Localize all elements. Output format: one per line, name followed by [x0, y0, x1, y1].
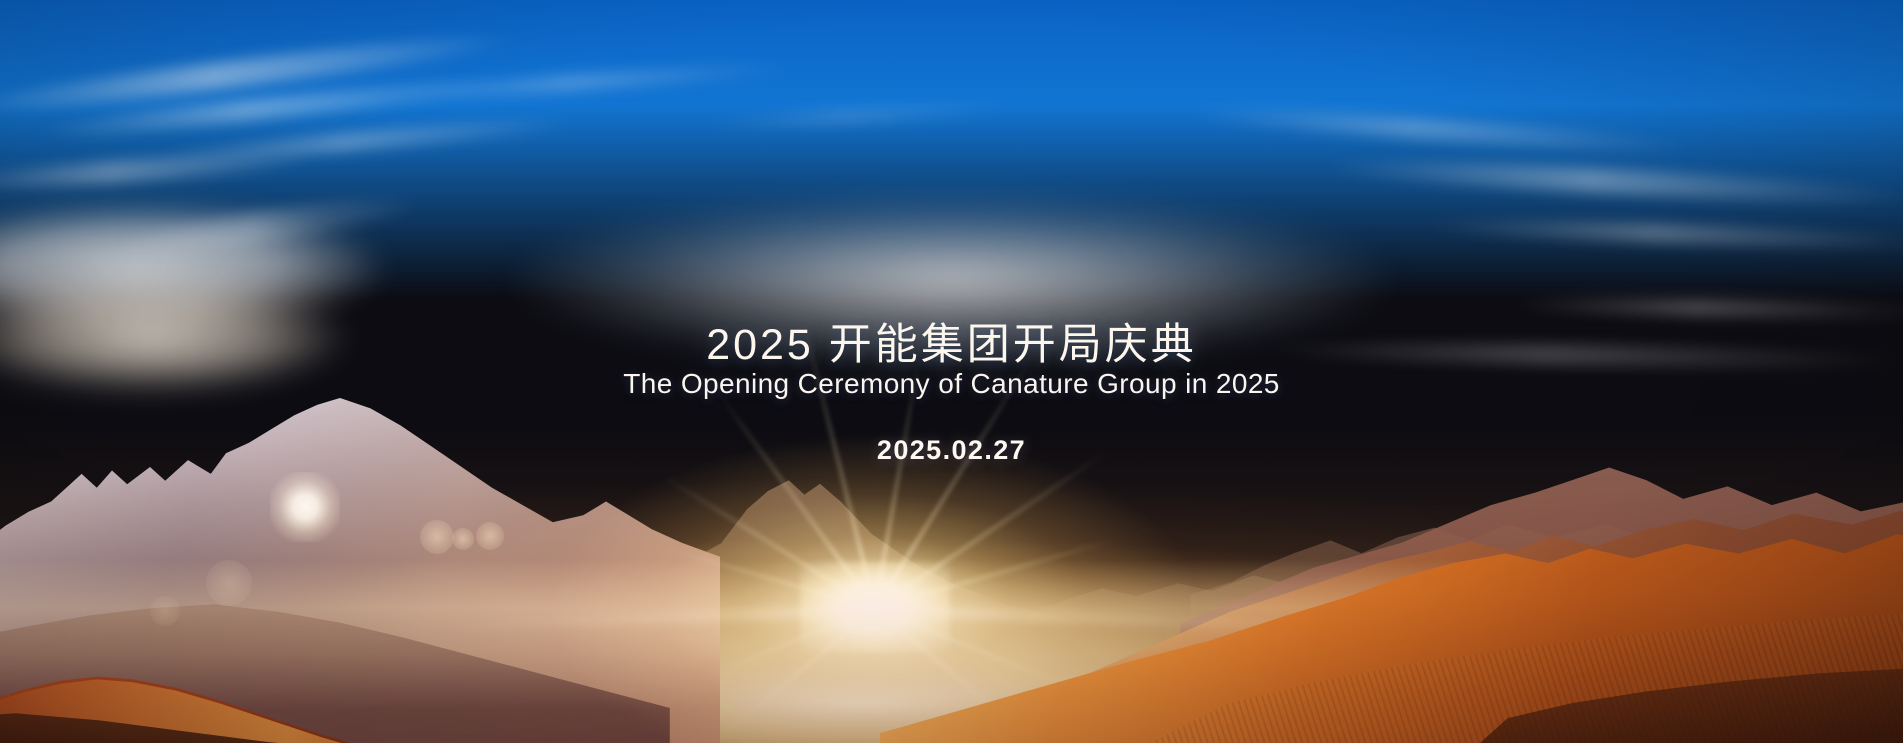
lens-flare-dot	[420, 520, 454, 554]
ceremony-banner: 敢 想 有 为 智 启 未 来 2025 开能集团开局庆典 The Openin…	[0, 0, 1903, 743]
lens-flare-dot	[206, 560, 252, 606]
peak-sun-glint	[270, 472, 340, 542]
lens-flare-dot	[476, 522, 504, 550]
lens-flare-dot	[452, 528, 474, 550]
lens-flare-dot	[150, 596, 180, 626]
